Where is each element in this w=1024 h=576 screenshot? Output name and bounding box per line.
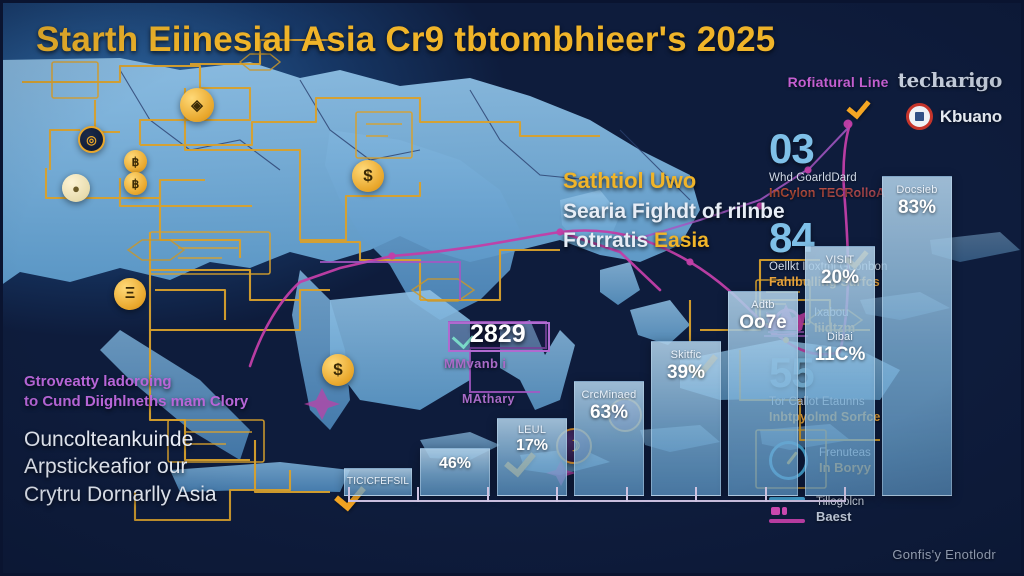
bar-chart: TICICFEFSIL 46% LEUL 17% CrcMinaed 63% S… xyxy=(330,70,860,532)
left-body-line-2: Arpstickeafior our xyxy=(24,453,314,481)
bar-4[interactable]: CrcMinaed 63% xyxy=(574,381,644,496)
bar-label: TICICFEFSIL xyxy=(347,476,409,487)
infographic-poster: Starth Eiinesial Asia Cr9 tbtombhieer's … xyxy=(0,0,1024,576)
bar-value-secondary: 11C% xyxy=(815,344,866,366)
bar-label: LEUL xyxy=(518,424,546,436)
left-body: Ouncolteankuinde Arpstickeafior our Cryt… xyxy=(24,426,314,509)
left-body-line-3: Crytru Dornarlly Asia xyxy=(24,481,314,509)
bar-5[interactable]: Skitfic 39% xyxy=(651,341,721,496)
left-subheading-line-1: Gtroveatty ladoroing xyxy=(24,372,314,392)
bar-value: 39% xyxy=(667,362,705,384)
bar-7[interactable]: VISIT 20% Dibai 11C% xyxy=(805,246,875,496)
rounded-square-icon xyxy=(906,103,933,130)
bar-label: Skitfic xyxy=(671,349,702,361)
bar-value: Oo7e xyxy=(739,312,787,334)
bar-value: 46% xyxy=(439,455,471,473)
coin-ethereum: Ξ xyxy=(114,278,146,310)
bar-value: 20% xyxy=(821,267,859,289)
coin-network-hub: ◈ xyxy=(180,88,214,122)
bar-label: Docsieb xyxy=(896,184,937,196)
bar-8[interactable]: Docsieb 83% xyxy=(882,176,952,496)
coin-bitcoin-2: ฿ xyxy=(124,172,147,195)
left-text-block: Gtroveatty ladoroing to Cund Diighlneths… xyxy=(24,372,314,509)
bar-label: CrcMinaed xyxy=(582,389,637,401)
chart-axis xyxy=(348,500,846,502)
coin-bitcoin-1: ฿ xyxy=(124,150,147,173)
bar-1[interactable]: TICICFEFSIL xyxy=(344,468,412,496)
bar-value: 17% xyxy=(516,437,548,455)
bar-6[interactable]: Adtb Oo7e xyxy=(728,291,798,496)
page-title: Starth Eiinesial Asia Cr9 tbtombhieer's … xyxy=(36,20,896,60)
left-body-line-1: Ouncolteankuinde xyxy=(24,426,314,454)
brand-wordmark: techarigo xyxy=(898,68,1002,92)
bar-2[interactable]: 46% xyxy=(420,448,490,496)
bar-label: Adtb xyxy=(751,299,774,311)
left-subheading-line-2: to Cund Diighlneths mam Clory xyxy=(24,392,314,412)
left-subheading: Gtroveatty ladoroing to Cund Diighlneths… xyxy=(24,372,314,413)
brand-secondary-label: Kbuano xyxy=(940,107,1002,127)
watermark: Gonfis'y Enotlodr xyxy=(892,547,996,562)
bar-3[interactable]: LEUL 17% xyxy=(497,418,567,496)
bar-label: VISIT xyxy=(826,254,855,266)
coin-dark-1: ◎ xyxy=(78,126,105,153)
bar-value: 83% xyxy=(898,197,936,219)
bar-label-secondary: Dibai xyxy=(827,331,853,343)
bar-value: 63% xyxy=(590,402,628,424)
coin-cream: ● xyxy=(62,174,90,202)
